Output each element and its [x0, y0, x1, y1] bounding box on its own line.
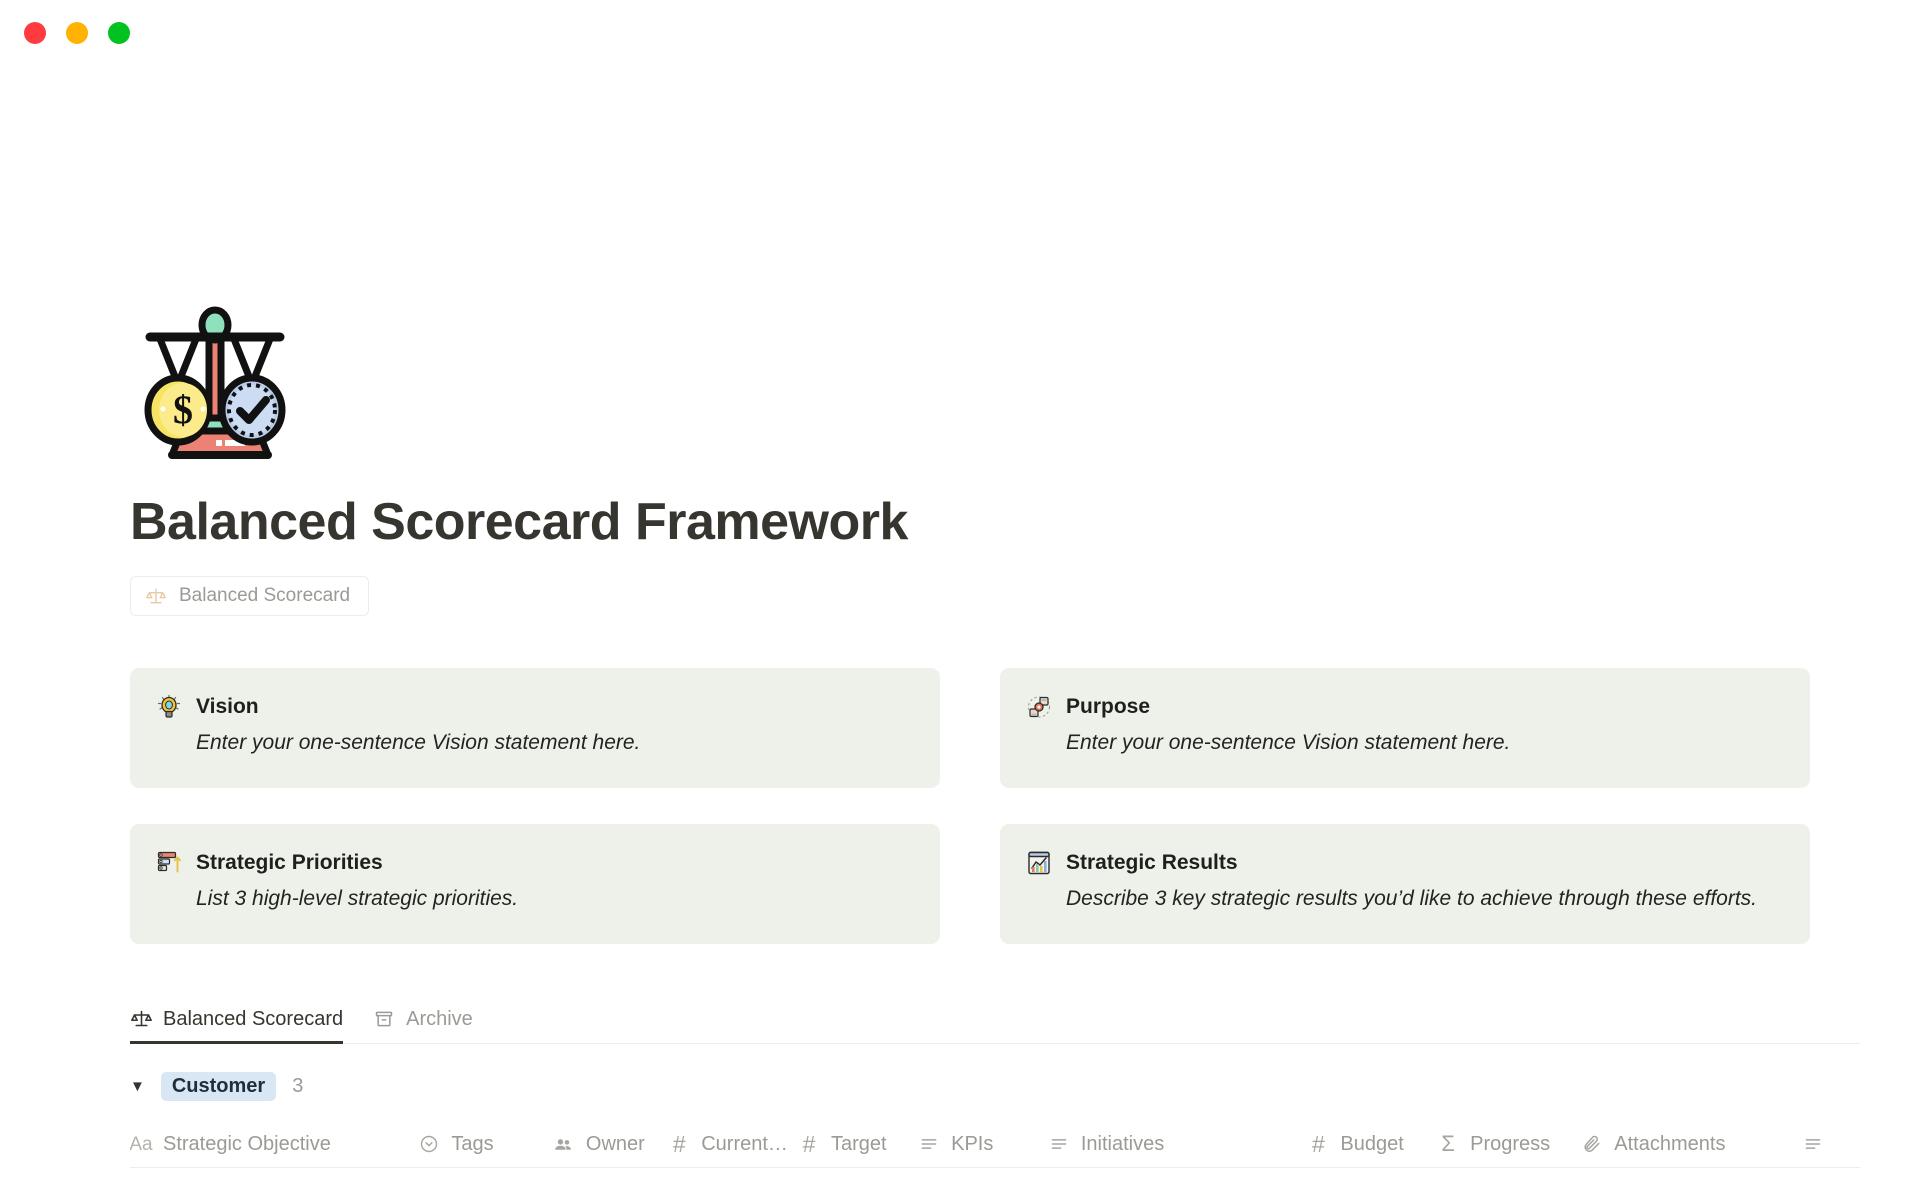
card-strategic-results[interactable]: Strategic Results Describe 3 key strateg… — [1000, 824, 1810, 944]
card-strategic-priorities[interactable]: Strategic Priorities List 3 high-level s… — [130, 824, 940, 944]
tab-archive[interactable]: Archive — [373, 1008, 473, 1043]
card-purpose[interactable]: Purpose Enter your one-sentence Vision s… — [1000, 668, 1810, 788]
target-icon — [1026, 694, 1052, 720]
tab-label: Balanced Scorecard — [163, 1009, 343, 1029]
column-overflow[interactable] — [1802, 1133, 1860, 1155]
rollup-sigma-icon: Σ — [1437, 1133, 1459, 1155]
column-label: Budget — [1340, 1134, 1403, 1154]
column-label: Owner — [586, 1134, 645, 1154]
card-title: Strategic Results — [1066, 851, 1238, 875]
view-tabs: Balanced Scorecard Archive — [130, 988, 1860, 1044]
lightbulb-icon — [156, 694, 182, 720]
paperclip-icon — [1581, 1133, 1603, 1155]
card-title: Vision — [196, 695, 259, 719]
column-target[interactable]: # Target — [798, 1133, 918, 1155]
group-badge: Customer — [161, 1072, 276, 1101]
card-body: List 3 high-level strategic priorities. — [196, 884, 910, 914]
priorities-icon — [156, 850, 182, 876]
column-budget[interactable]: # Budget — [1307, 1133, 1437, 1155]
breadcrumb-label: Balanced Scorecard — [179, 585, 350, 607]
card-body: Describe 3 key strategic results you’d l… — [1066, 884, 1780, 914]
select-circle-icon — [418, 1133, 440, 1155]
column-label: Target — [831, 1134, 887, 1154]
text-lines-icon — [1048, 1133, 1070, 1155]
svg-text:$: $ — [173, 387, 193, 432]
column-initiatives[interactable]: Initiatives — [1048, 1133, 1308, 1155]
card-body: Enter your one-sentence Vision statement… — [1066, 728, 1780, 758]
group-count: 3 — [292, 1075, 303, 1098]
archive-box-icon — [373, 1008, 395, 1030]
column-strategic-objective[interactable]: Aa Strategic Objective — [130, 1133, 418, 1155]
breadcrumb[interactable]: Balanced Scorecard — [130, 576, 369, 616]
text-aa-icon: Aa — [130, 1133, 152, 1155]
balance-scale-icon — [145, 585, 167, 607]
chevron-down-icon[interactable]: ▼ — [130, 1079, 145, 1094]
results-chart-icon — [1026, 850, 1052, 876]
group-header-customer[interactable]: ▼ Customer 3 — [130, 1070, 1860, 1104]
column-attachments[interactable]: Attachments — [1581, 1133, 1802, 1155]
column-label: Progress — [1470, 1134, 1550, 1154]
column-owner[interactable]: Owner — [553, 1133, 668, 1155]
summary-cards: Vision Enter your one-sentence Vision st… — [130, 668, 1860, 944]
column-label: Current… — [701, 1134, 788, 1154]
card-vision[interactable]: Vision Enter your one-sentence Vision st… — [130, 668, 940, 788]
column-label: Attachments — [1614, 1134, 1725, 1154]
tab-balanced-scorecard[interactable]: Balanced Scorecard — [130, 1008, 343, 1043]
page-content: $ Balanced Scorecard Framework — [0, 0, 1920, 1168]
number-hash-icon: # — [1307, 1133, 1329, 1155]
column-current[interactable]: # Current… — [668, 1133, 798, 1155]
column-progress[interactable]: Σ Progress — [1437, 1133, 1581, 1155]
number-hash-icon: # — [668, 1133, 690, 1155]
table-column-headers: Aa Strategic Objective Tags — [130, 1122, 1860, 1168]
column-label: KPIs — [951, 1134, 993, 1154]
number-hash-icon: # — [798, 1133, 820, 1155]
tab-label: Archive — [406, 1009, 473, 1029]
page-title: Balanced Scorecard Framework — [130, 494, 1860, 550]
text-lines-icon — [1802, 1133, 1824, 1155]
card-title: Purpose — [1066, 695, 1150, 719]
card-title: Strategic Priorities — [196, 851, 383, 875]
column-label: Tags — [451, 1134, 493, 1154]
people-icon — [553, 1133, 575, 1155]
balance-scale-illustration: $ — [130, 292, 310, 472]
column-label: Initiatives — [1081, 1134, 1164, 1154]
balance-scale-icon — [130, 1008, 152, 1030]
text-lines-icon — [918, 1133, 940, 1155]
card-body: Enter your one-sentence Vision statement… — [196, 728, 910, 758]
column-kpis[interactable]: KPIs — [918, 1133, 1048, 1155]
column-label: Strategic Objective — [163, 1134, 331, 1154]
column-tags[interactable]: Tags — [418, 1133, 553, 1155]
app-window: $ Balanced Scorecard Framework — [0, 0, 1920, 1200]
